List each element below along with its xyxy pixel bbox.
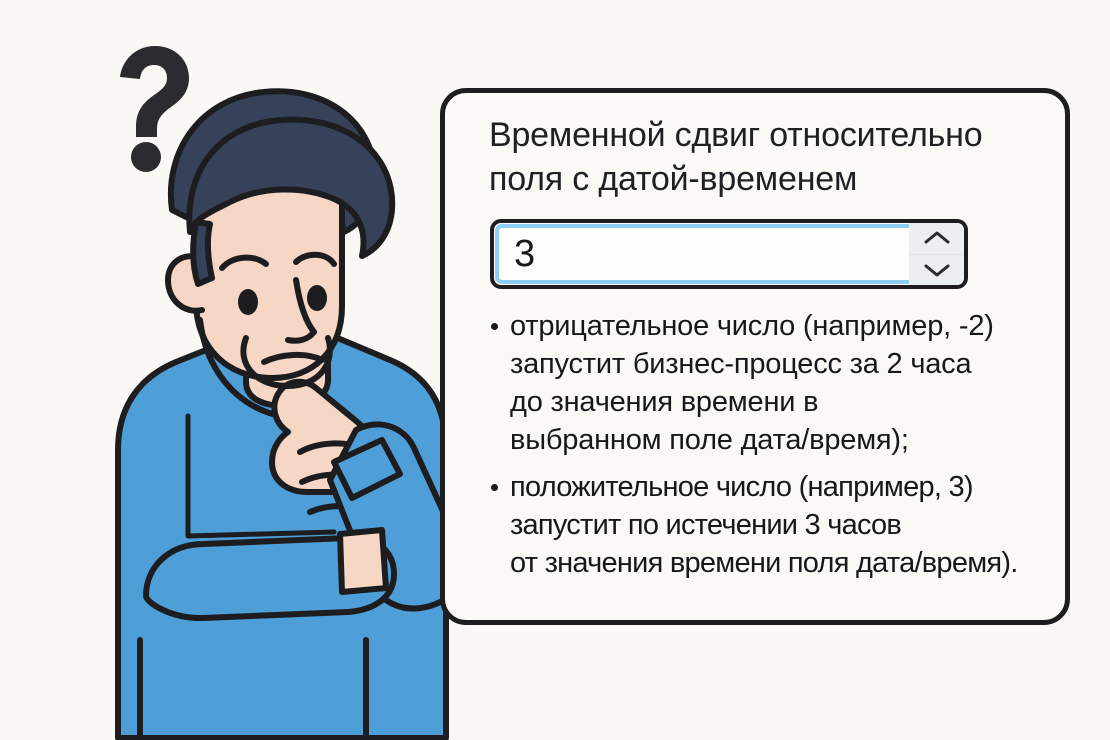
list-item-text: положительное число (например, 3) запуст…: [510, 468, 1065, 582]
bullet-dot-icon: [491, 323, 498, 330]
number-spinner[interactable]: [909, 223, 964, 285]
time-offset-field[interactable]: [490, 219, 968, 289]
illustration-scene: Временной сдвиг относительно поля с дато…: [0, 0, 1110, 740]
chevron-down-icon[interactable]: [909, 254, 964, 286]
time-offset-input[interactable]: [494, 223, 909, 285]
bullet-dot-icon: [491, 484, 498, 491]
bullet-list: отрицательное число (например, -2) запус…: [485, 307, 1065, 591]
chevron-up-icon[interactable]: [909, 223, 964, 254]
list-item: положительное число (например, 3) запуст…: [485, 468, 1065, 582]
list-item-text: отрицательное число (например, -2) запус…: [510, 307, 1065, 459]
thinking-man-illustration: [0, 0, 470, 740]
list-item: отрицательное число (например, -2) запус…: [485, 307, 1065, 459]
card-title: Временной сдвиг относительно поля с дато…: [489, 113, 1064, 201]
info-card: Временной сдвиг относительно поля с дато…: [440, 88, 1070, 625]
eye-left: [238, 289, 258, 315]
eye-right: [307, 285, 327, 311]
